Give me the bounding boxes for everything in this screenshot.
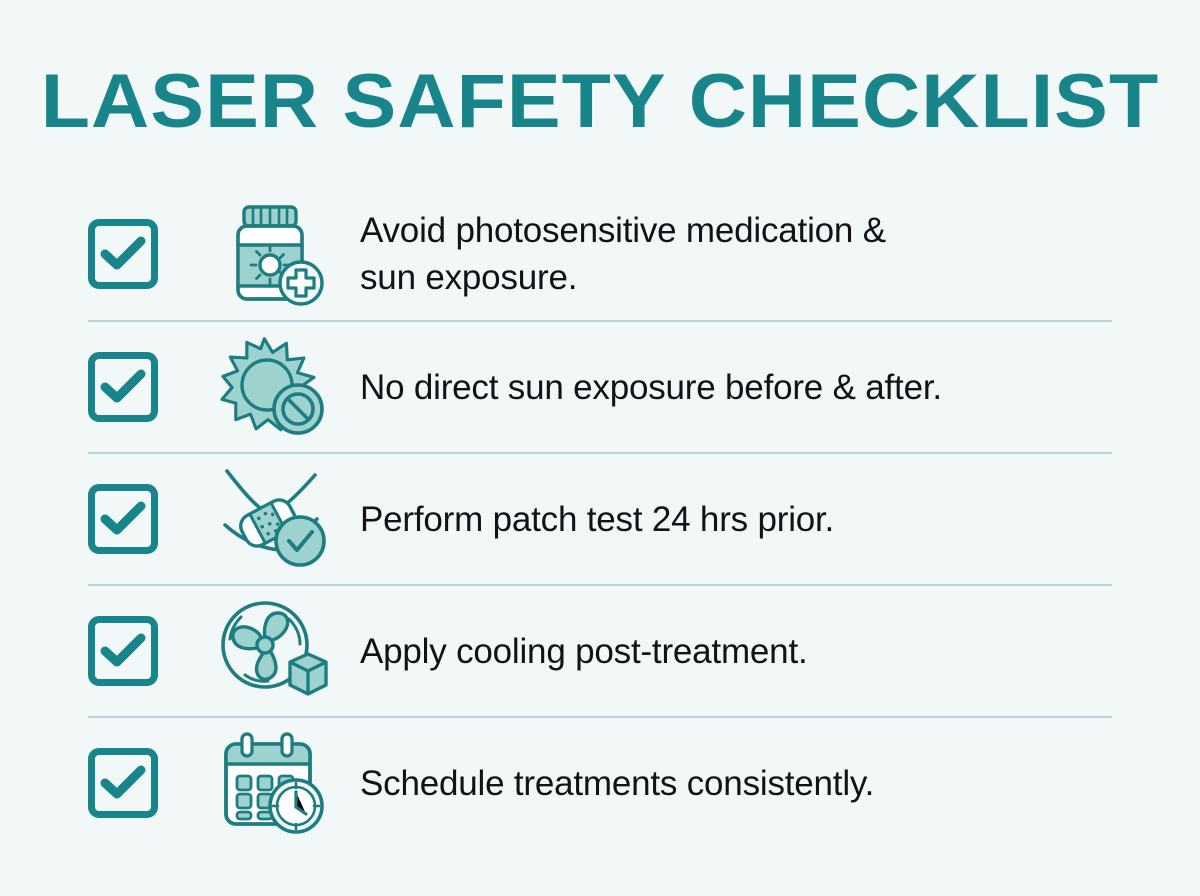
- pill-bottle-sun-plus-icon: [222, 200, 326, 308]
- page-title: LASER SAFETY CHECKLIST: [0, 58, 1200, 146]
- checkbox-checked[interactable]: [88, 616, 158, 686]
- list-item[interactable]: No direct sun exposure before & after.: [88, 320, 1112, 452]
- list-item[interactable]: Avoid photosensitive medication & sun ex…: [88, 188, 1112, 320]
- sun-no-exposure-icon: [220, 335, 328, 439]
- list-item-label: Perform patch test 24 hrs prior.: [348, 496, 1112, 543]
- patch-test-check-icon: [219, 467, 329, 571]
- list-item[interactable]: Apply cooling post-treatment.: [88, 584, 1112, 716]
- list-item-label: No direct sun exposure before & after.: [348, 364, 1112, 411]
- list-item-label-line1: Perform patch test 24 hrs prior.: [360, 496, 1104, 543]
- checkbox-checked[interactable]: [88, 748, 158, 818]
- icon-cell: [200, 730, 348, 836]
- checkbox-checked[interactable]: [88, 219, 158, 289]
- list-item-label-line1: Apply cooling post-treatment.: [360, 628, 1104, 675]
- list-item-label-line1: Schedule treatments consistently.: [360, 760, 1104, 807]
- fan-ice-cube-icon: [219, 599, 329, 703]
- list-item-label-line1: No direct sun exposure before & after.: [360, 364, 1104, 411]
- icon-cell: [200, 335, 348, 439]
- checkbox-cell: [88, 219, 200, 289]
- checkbox-checked[interactable]: [88, 484, 158, 554]
- list-item-label-line2: sun exposure.: [360, 254, 1104, 301]
- list-item[interactable]: Perform patch test 24 hrs prior.: [88, 452, 1112, 584]
- list-item-label: Schedule treatments consistently.: [348, 760, 1112, 807]
- list-item-label-line1: Avoid photosensitive medication &: [360, 207, 1104, 254]
- checkbox-cell: [88, 484, 200, 554]
- checkbox-cell: [88, 748, 200, 818]
- icon-cell: [200, 467, 348, 571]
- icon-cell: [200, 599, 348, 703]
- icon-cell: [200, 200, 348, 308]
- laser-safety-checklist-poster: LASER SAFETY CHECKLIST: [0, 0, 1200, 896]
- list-item[interactable]: Schedule treatments consistently.: [88, 716, 1112, 848]
- checkbox-cell: [88, 616, 200, 686]
- checklist: Avoid photosensitive medication & sun ex…: [88, 188, 1112, 848]
- checkbox-cell: [88, 352, 200, 422]
- list-item-label: Apply cooling post-treatment.: [348, 628, 1112, 675]
- checkbox-checked[interactable]: [88, 352, 158, 422]
- calendar-clock-icon: [220, 730, 328, 836]
- list-item-label: Avoid photosensitive medication & sun ex…: [348, 207, 1112, 301]
